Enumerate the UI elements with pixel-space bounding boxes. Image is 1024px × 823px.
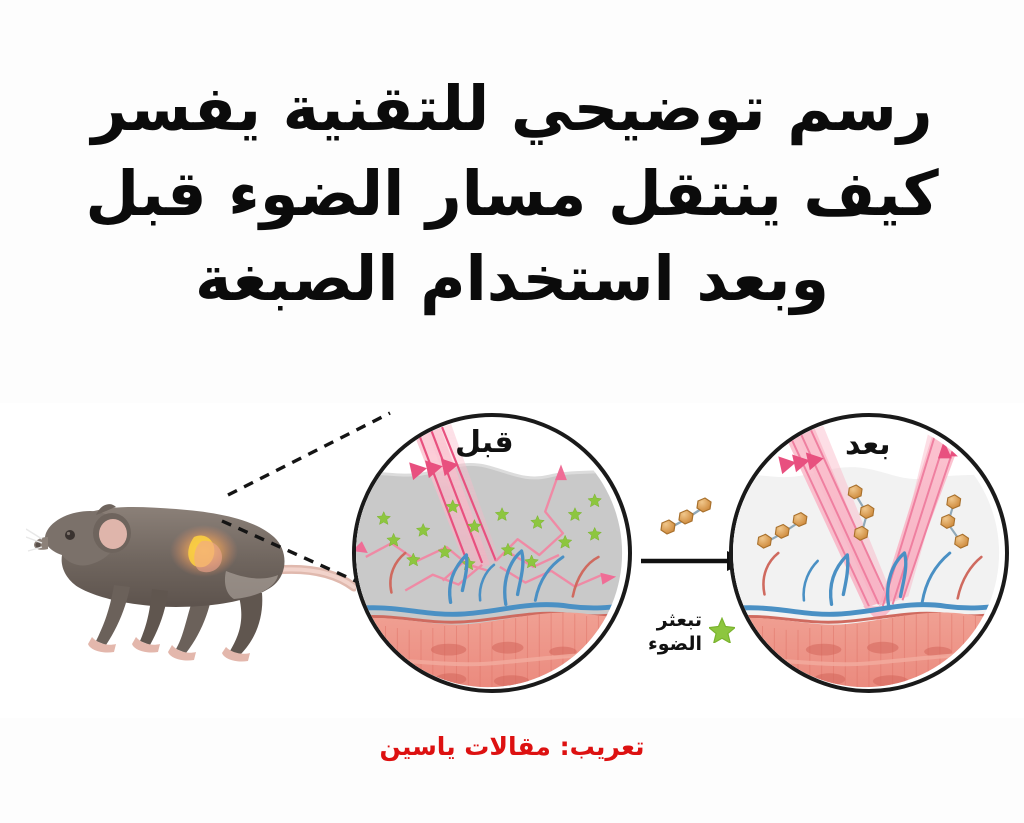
- title-line-3: وبعد استخدام الصبغة: [0, 236, 1024, 321]
- legend-star-icon: [709, 617, 735, 647]
- credit-line: تعريب: مقالات ياسين: [0, 732, 1024, 761]
- page-title: رسم توضيحي للتقنية يفسر كيف ينتقل مسار ا…: [0, 66, 1024, 321]
- title-line-1: رسم توضيحي للتقنية يفسر: [0, 66, 1024, 151]
- title-line-2: كيف ينتقل مسار الضوء قبل: [0, 151, 1024, 236]
- poster-root: رسم توضيحي للتقنية يفسر كيف ينتقل مسار ا…: [0, 0, 1024, 823]
- figure-panel: قبل: [0, 403, 1024, 718]
- after-label: بعد: [845, 427, 891, 462]
- legend-label-line1: تبعثر: [657, 609, 702, 631]
- dye-molecule-icon: [650, 495, 720, 547]
- before-label: قبل: [455, 425, 514, 460]
- legend: تبعثر الضوء: [600, 608, 735, 656]
- legend-label: تبعثر الضوء: [648, 608, 702, 656]
- legend-label-line2: الضوء: [648, 633, 702, 655]
- mouse-illustration: [26, 475, 356, 665]
